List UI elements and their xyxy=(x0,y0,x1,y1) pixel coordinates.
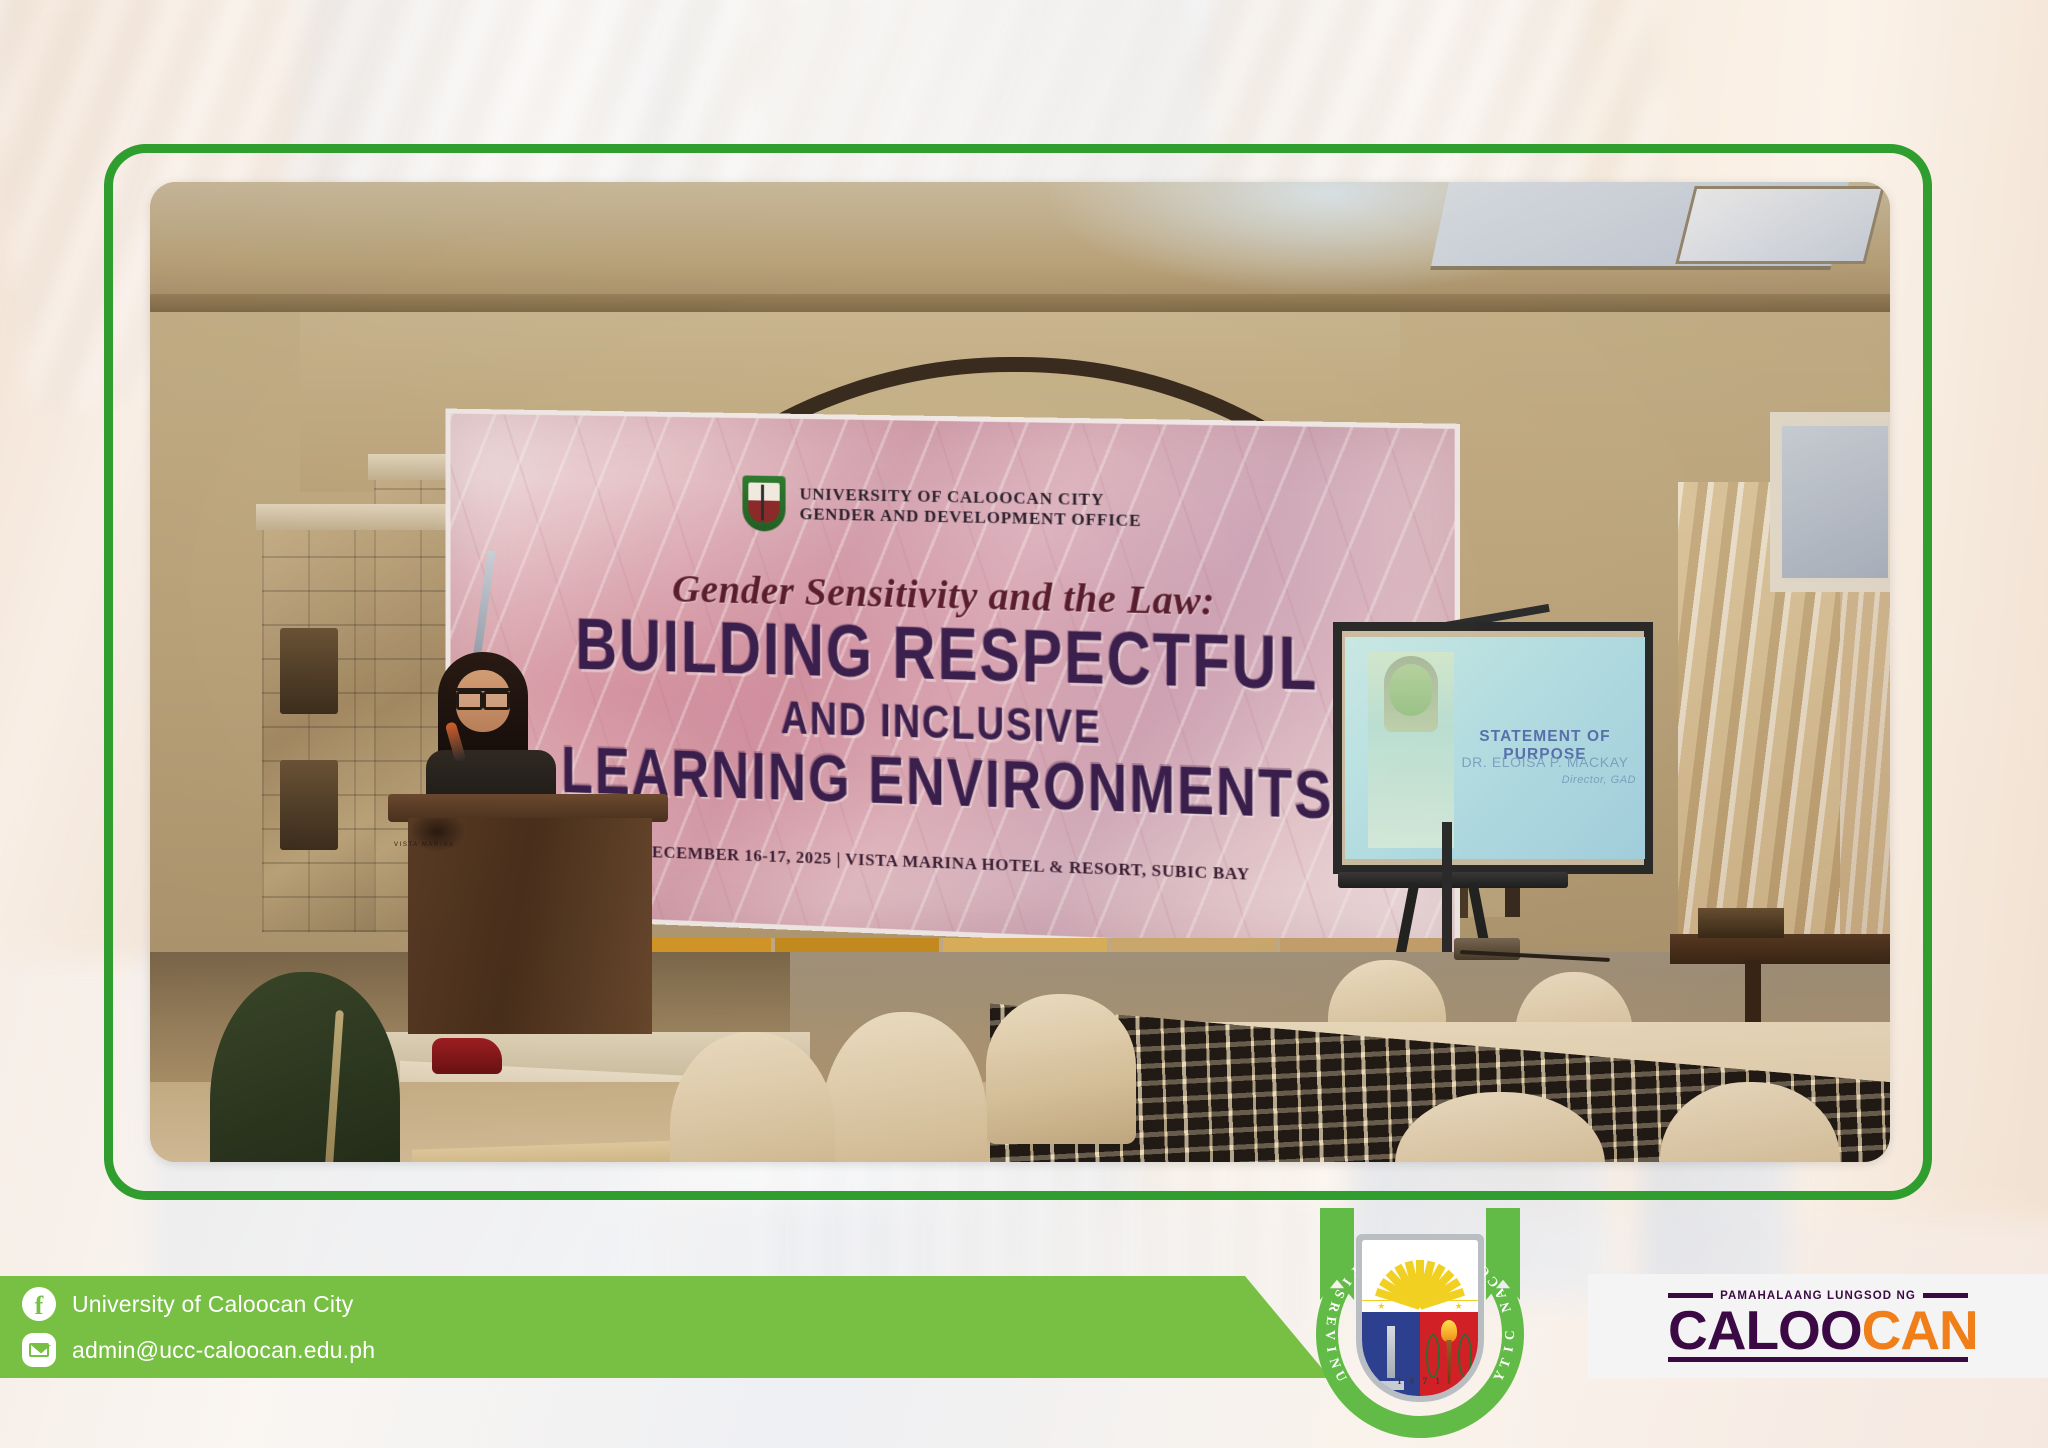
caloocan-logo: PAMAHALAANG LUNGSOD NG CALOOCAN xyxy=(1668,1290,1968,1363)
seal-ring-letter: Y xyxy=(1490,1368,1509,1384)
monument-icon xyxy=(1387,1326,1395,1378)
facebook-contact-row[interactable]: f University of Caloocan City xyxy=(22,1287,1330,1321)
laurel-icon xyxy=(1458,1334,1472,1378)
torch-icon xyxy=(1441,1320,1457,1342)
star-icon: ★ xyxy=(1416,1302,1424,1311)
laurel-icon xyxy=(1426,1334,1440,1378)
seal-shield: ★ ★ ★ 1 9 7 1 xyxy=(1356,1234,1484,1402)
seal-ring-letter: V xyxy=(1322,1330,1338,1340)
seal-ring-letter: R xyxy=(1325,1300,1343,1314)
email-contact-row[interactable]: admin@ucc-caloocan.edu.ph xyxy=(22,1333,1330,1367)
seal-ring-letter: N xyxy=(1497,1300,1515,1314)
seal-ring-letter: E xyxy=(1322,1315,1339,1326)
seal-ring-letter: I xyxy=(1500,1345,1517,1353)
seal-ring-letter: C xyxy=(1502,1330,1518,1340)
caloocan-wordmark: CALOOCAN xyxy=(1668,1305,1968,1356)
envelope-glyph xyxy=(29,1343,49,1357)
seal-year: 1 9 7 1 xyxy=(1362,1376,1478,1386)
star-icon: ★ xyxy=(1377,1302,1385,1311)
seal-shield-inner: ★ ★ ★ 1 9 7 1 xyxy=(1362,1240,1478,1396)
caloocan-word-part-1: CALOO xyxy=(1668,1299,1862,1361)
seal-ring-letter: U xyxy=(1331,1368,1350,1384)
seal-stars: ★ ★ ★ xyxy=(1362,1300,1478,1312)
photo-frame-border xyxy=(104,144,1932,1200)
seal-ring-letter: N xyxy=(1326,1356,1344,1370)
seal-ring-letter: I xyxy=(1323,1345,1340,1353)
contact-bar: f University of Caloocan City admin@ucc-… xyxy=(0,1276,1330,1378)
caloocan-word-part-2: CAN xyxy=(1862,1299,1978,1361)
email-icon[interactable] xyxy=(22,1333,56,1367)
seal-ring-letter: S xyxy=(1331,1287,1349,1301)
ucc-seal-logo: UNIVERSITYOFCALOOCANCITY ★ ★ ★ 1 9 7 1 xyxy=(1302,1208,1538,1448)
caloocan-rule-left xyxy=(1668,1293,1713,1298)
caloocan-rule-right xyxy=(1923,1293,1968,1298)
caloocan-logo-panel: PAMAHALAANG LUNGSOD NG CALOOCAN xyxy=(1588,1274,2048,1378)
seal-ring-letter: I xyxy=(1339,1275,1355,1289)
email-label: admin@ucc-caloocan.edu.ph xyxy=(72,1337,375,1364)
star-icon: ★ xyxy=(1455,1302,1463,1311)
facebook-glyph: f xyxy=(35,1293,44,1319)
sunburst-icon: ★ ★ ★ xyxy=(1362,1240,1478,1312)
facebook-label: University of Caloocan City xyxy=(72,1291,354,1318)
seal-ring-letter: T xyxy=(1496,1356,1514,1370)
seal-ring-letter: A xyxy=(1491,1286,1510,1302)
facebook-icon[interactable]: f xyxy=(22,1287,56,1321)
